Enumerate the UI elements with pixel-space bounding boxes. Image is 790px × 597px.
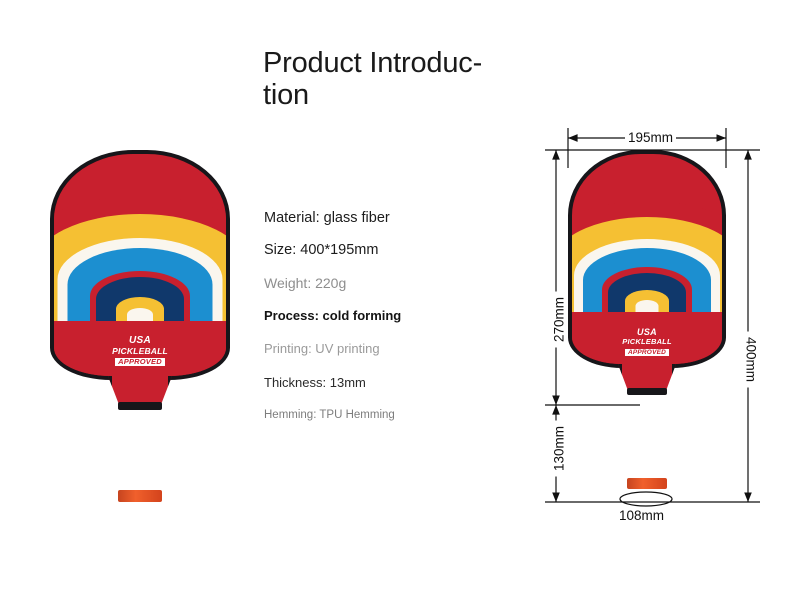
badge-line-pickleball-dim: PICKLEBALL [601, 338, 693, 346]
dim-label-108mm: 108mm [616, 508, 667, 523]
paddle-grip-butt [118, 490, 162, 502]
usa-pickleball-approved-badge-dim: USA PICKLEBALL APPROVED [601, 328, 693, 357]
paddle-grip-butt-dim [627, 478, 667, 489]
spec-size: Size: 400*195mm [264, 242, 464, 258]
specification-list: Material: glass fiber Size: 400*195mm We… [264, 210, 464, 421]
dim-label-130mm: 130mm [552, 421, 567, 477]
dim-label-195mm: 195mm [625, 130, 676, 145]
spec-thickness: Thickness: 13mm [264, 375, 464, 390]
page-title-line-1: Product Introduc- [263, 47, 482, 79]
dim-label-270mm: 270mm [552, 292, 567, 348]
arc-white-core-dim [636, 300, 659, 312]
spec-material: Material: glass fiber [264, 210, 464, 226]
product-image-paddle-front: USA PICKLEBALL APPROVED [50, 150, 230, 500]
paddle-grip [120, 408, 160, 496]
paddle-face: USA PICKLEBALL APPROVED [50, 150, 230, 380]
badge-line-approved: APPROVED [115, 358, 165, 366]
spec-printing: Printing: UV printing [264, 341, 464, 356]
page-title: Product Introduc- tion [263, 47, 563, 111]
badge-line-pickleball: PICKLEBALL [90, 347, 190, 356]
product-image-paddle-dimensioned: USA PICKLEBALL APPROVED [568, 150, 726, 502]
spec-process: Process: cold forming [264, 308, 464, 323]
arc-white-core [127, 308, 153, 321]
spec-hemming: Hemming: TPU Hemming [264, 409, 464, 421]
badge-line-approved-dim: APPROVED [625, 349, 669, 356]
usa-pickleball-approved-badge: USA PICKLEBALL APPROVED [90, 336, 190, 368]
spec-weight: Weight: 220g [264, 275, 464, 291]
paddle-grip-dim [629, 394, 666, 484]
paddle-face-dim: USA PICKLEBALL APPROVED [568, 150, 726, 368]
page-title-line-2: tion [263, 79, 309, 111]
dim-label-400mm: 400mm [744, 332, 759, 388]
